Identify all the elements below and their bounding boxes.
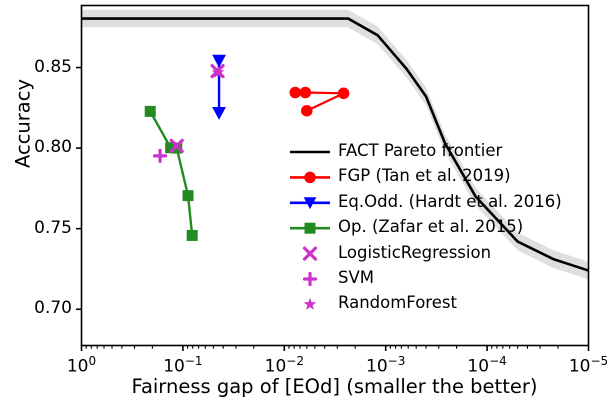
data-point-circle-marker — [300, 87, 312, 99]
x-axis-title: Fairness gap of [EOd] (smaller the bette… — [81, 375, 588, 398]
legend-marker-square — [305, 223, 316, 234]
legend-glyphs — [290, 152, 330, 310]
legend-label: FACT Pareto frontier — [338, 141, 502, 160]
series-op — [145, 106, 198, 241]
y-tick-label: 0.75 — [18, 218, 72, 238]
legend-marker-star — [304, 298, 317, 310]
data-point-plus-marker — [155, 150, 166, 161]
y-tick-label: 0.80 — [18, 137, 72, 157]
legend-label: Eq.Odd. (Hardt et al. 2016) — [338, 192, 562, 211]
x-tick-label: 10−2 — [262, 354, 306, 377]
x-tick-label: 10−4 — [465, 354, 509, 377]
data-point-square-marker — [187, 230, 198, 241]
y-tick-label: 0.70 — [18, 298, 72, 318]
data-point-square-marker — [145, 106, 156, 117]
x-tick-label: 10−3 — [364, 354, 408, 377]
data-point-circle-marker — [338, 88, 350, 100]
data-point-circle-marker — [301, 105, 313, 117]
series-fact-pareto-frontier — [82, 10, 589, 280]
x-tick-label: 100 — [60, 354, 104, 377]
frontier-uncertainty-band — [82, 10, 589, 280]
legend-label: RandomForest — [338, 293, 457, 312]
legend-marker-x — [305, 248, 316, 259]
legend-label: FGP (Tan et al. 2019) — [338, 166, 511, 185]
legend-marker-plus — [305, 274, 316, 285]
x-tick-label: 10−5 — [567, 354, 609, 377]
series-svm — [155, 150, 166, 161]
data-layer — [82, 10, 589, 280]
x-tick-label: 10−1 — [161, 354, 205, 377]
plot-frame — [82, 6, 589, 346]
data-point-triangle-down-marker — [212, 107, 226, 120]
data-point-circle-marker — [289, 87, 301, 99]
series-line — [150, 111, 192, 235]
series-fgp — [289, 87, 349, 117]
legend-marker-circle — [304, 172, 316, 184]
legend-label: SVM — [338, 268, 374, 287]
legend-label: LogisticRegression — [338, 243, 491, 262]
data-point-square-marker — [183, 190, 194, 201]
chart-figure: Accuracy Fairness gap of [EOd] (smaller … — [0, 0, 609, 407]
y-tick-label: 0.85 — [18, 57, 72, 77]
legend-label: Op. (Zafar et al. 2015) — [338, 217, 523, 236]
